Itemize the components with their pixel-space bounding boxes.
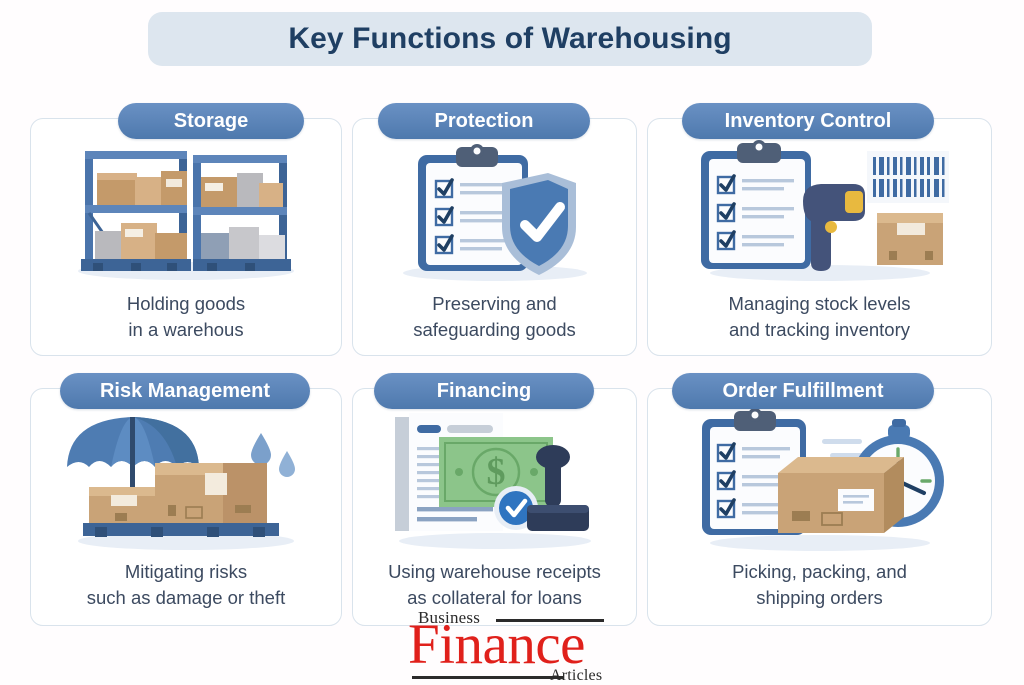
card-heading-inventory-control[interactable]: Inventory Control [682, 103, 934, 139]
card-heading-label: Financing [437, 380, 531, 403]
card-order-fulfillment: Picking, packing, and shipping orders [647, 388, 992, 626]
clipboard-box-stopwatch-icon [648, 405, 991, 555]
card-heading-order-fulfillment[interactable]: Order Fulfillment [672, 373, 934, 409]
banknote-document-stamp-icon: $ [353, 405, 636, 555]
clipboard-shield-icon [353, 135, 636, 285]
caption-line-1: Picking, packing, and [648, 559, 991, 585]
caption-line-1: Mitigating risks [31, 559, 341, 585]
caption-line-1: Holding goods [31, 291, 341, 317]
card-inventory-control: Managing stock levels and tracking inven… [647, 118, 992, 356]
card-caption: Holding goods in a warehous [31, 291, 341, 343]
card-caption: Mitigating risks such as damage or theft [31, 559, 341, 611]
card-caption: Preserving and safeguarding goods [353, 291, 636, 343]
card-caption: Managing stock levels and tracking inven… [648, 291, 991, 343]
card-heading-label: Protection [435, 110, 534, 133]
caption-line-2: and tracking inventory [648, 317, 991, 343]
card-storage: Holding goods in a warehous [30, 118, 342, 356]
caption-line-2: in a warehous [31, 317, 341, 343]
barcode-scanner-icon [648, 135, 991, 285]
caption-line-1: Using warehouse receipts [353, 559, 636, 585]
card-heading-label: Risk Management [100, 380, 270, 403]
card-heading-label: Storage [174, 110, 248, 133]
card-heading-risk-management[interactable]: Risk Management [60, 373, 310, 409]
brand-logo[interactable]: Business Finance Articles [398, 608, 630, 682]
card-protection: Preserving and safeguarding goods [352, 118, 637, 356]
caption-line-2: shipping orders [648, 585, 991, 611]
warehouse-rack-icon [31, 135, 341, 285]
logo-main-word: Finance [408, 616, 585, 673]
card-caption: Using warehouse receipts as collateral f… [353, 559, 636, 611]
caption-line-2: safeguarding goods [353, 317, 636, 343]
card-financing: $ Using warehouse receipts as collateral… [352, 388, 637, 626]
card-caption: Picking, packing, and shipping orders [648, 559, 991, 611]
caption-line-1: Preserving and [353, 291, 636, 317]
logo-rule-bottom [412, 676, 564, 679]
caption-line-1: Managing stock levels [648, 291, 991, 317]
logo-bottom-word: Articles [550, 667, 602, 685]
page-title-banner: Key Functions of Warehousing [148, 12, 872, 66]
card-heading-label: Order Fulfillment [722, 380, 883, 403]
page-title: Key Functions of Warehousing [288, 22, 731, 56]
caption-line-2: such as damage or theft [31, 585, 341, 611]
card-heading-label: Inventory Control [725, 110, 892, 133]
card-heading-storage[interactable]: Storage [118, 103, 304, 139]
card-heading-financing[interactable]: Financing [374, 373, 594, 409]
svg-text:$: $ [486, 451, 505, 493]
card-heading-protection[interactable]: Protection [378, 103, 590, 139]
umbrella-boxes-icon [31, 405, 341, 555]
card-risk-management: Mitigating risks such as damage or theft [30, 388, 342, 626]
